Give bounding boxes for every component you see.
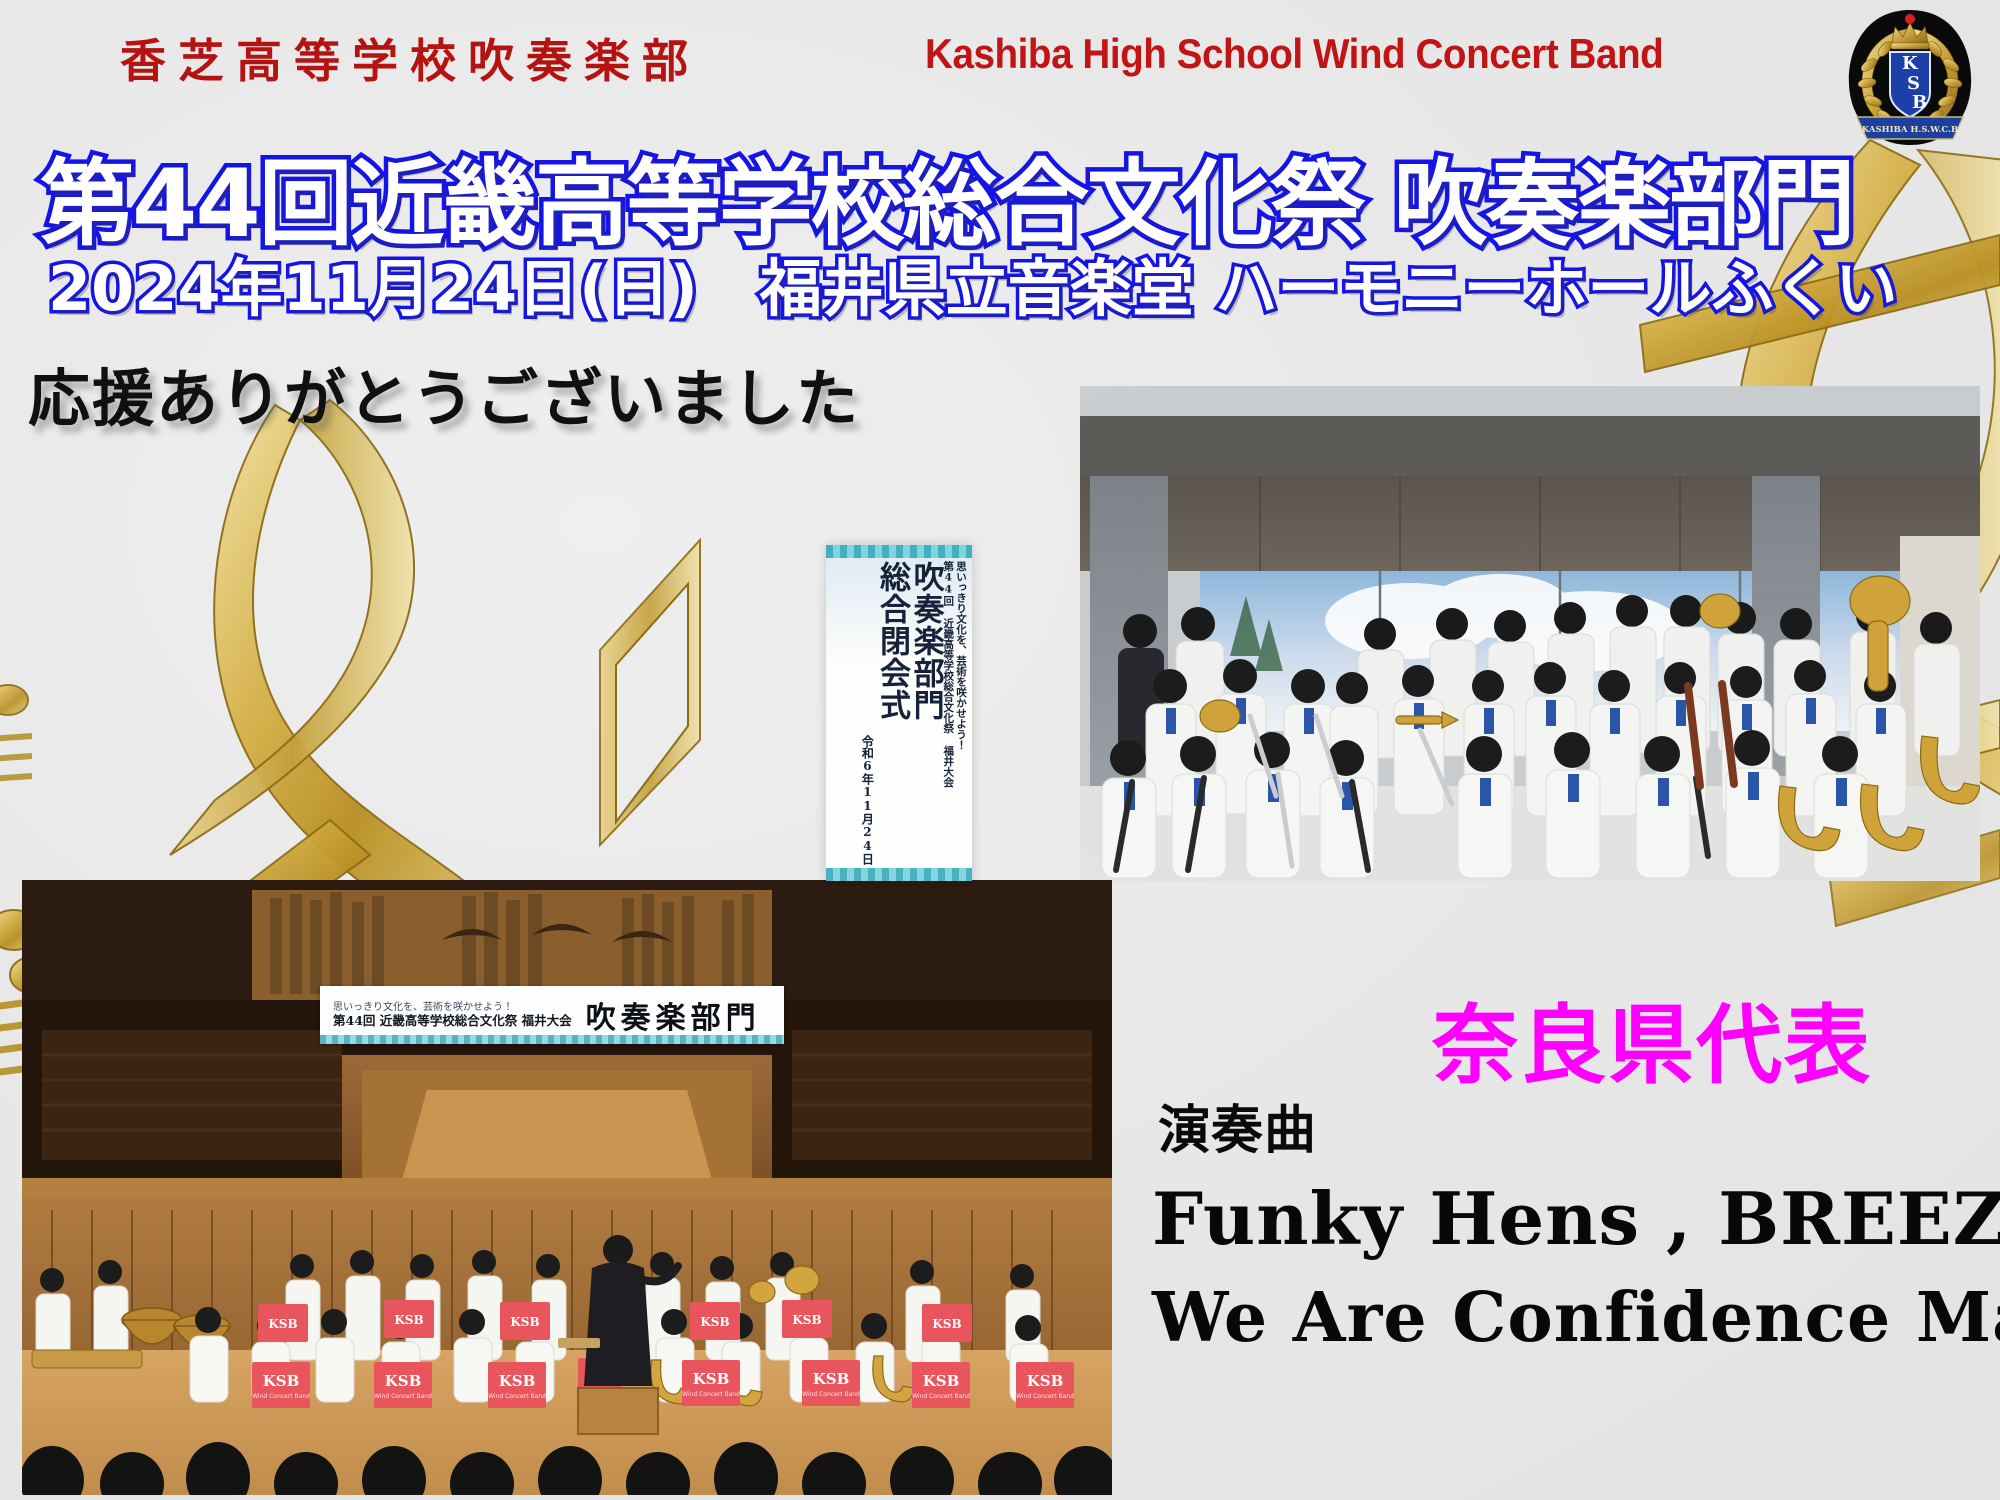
emblem-ribbon-text: KASHIBA H.S.W.C.B (1862, 125, 1958, 135)
music-stand-label: KSB (385, 1372, 422, 1390)
music-stand-label: KSB (693, 1370, 730, 1388)
ceremony-signboard: 思いっきり文化を、芸術を咲かせよう！ 第44回 近畿高等学校総合文化祭 福井大会… (826, 545, 972, 881)
svg-text:S: S (1907, 73, 1920, 94)
music-stand-label: KSB (792, 1313, 821, 1327)
program-piece-1: Funky Hens , BREEZIN’ (1152, 1176, 2000, 1261)
music-stand-label: KSB (932, 1317, 961, 1331)
music-stand-label: KSB (499, 1372, 536, 1390)
signboard-event-line: 第44回 近畿高等学校総合文化祭 福井大会 (943, 561, 954, 865)
stage-banner-subtitle: 第44回 近畿高等学校総合文化祭 福井大会 (333, 1014, 572, 1027)
stage-banner-bottom-border (320, 1035, 784, 1044)
svg-text:K: K (1902, 53, 1919, 74)
stage-banner: 思いっきり文化を、芸術を咲かせよう！ 第44回 近畿高等学校総合文化祭 福井大会… (320, 986, 784, 1044)
music-stand-label: KSB (263, 1372, 300, 1390)
music-stand-label: KSB (268, 1317, 297, 1331)
concert-stage-photo: KSB KSB KSB KSB KSB KSB KSB KSB KSB KSB … (22, 880, 1112, 1495)
music-stand-label: KSB (700, 1315, 729, 1329)
thanks-message: 応援ありがとうございました (28, 348, 860, 438)
music-stand-label: KSB (923, 1372, 960, 1390)
svg-text:Wind Concert Band: Wind Concert Band (802, 1391, 860, 1398)
svg-text:B: B (1912, 92, 1927, 113)
signboard-bottom-border (826, 868, 972, 881)
svg-text:Wind Concert Band: Wind Concert Band (682, 1391, 740, 1398)
music-stand-label: KSB (394, 1313, 423, 1327)
svg-text:Wind Concert Band: Wind Concert Band (1016, 1393, 1074, 1400)
event-date-venue: 2024年11月24日(日) 福井県立音楽堂 ハーモニーホールふくい (48, 238, 1897, 328)
svg-text:Wind Concert Band: Wind Concert Band (488, 1393, 546, 1400)
music-stand-label: KSB (813, 1370, 850, 1388)
program-label: 演奏曲 (1158, 1088, 1317, 1163)
svg-text:Wind Concert Band: Wind Concert Band (374, 1393, 432, 1400)
program-piece-2: We Are Confidence Man (1152, 1278, 2000, 1358)
stage-banner-title: 吹奏楽部門 (586, 993, 761, 1037)
signboard-date-line: 令和6年11月24日 (861, 735, 873, 865)
school-name-jp: 香芝高等学校吹奏楽部 (120, 25, 700, 91)
school-name-en: Kashiba High School Wind Concert Band (925, 30, 1663, 78)
signboard-script-line: 思いっきり文化を、芸術を咲かせよう！ (955, 561, 966, 865)
school-emblem-icon: K S B KASHIBA H.S.W.C.B (1845, 5, 1975, 155)
poster-canvas: 香芝高等学校吹奏楽部 Kashiba High School Wind Conc… (0, 0, 2000, 1500)
svg-text:Wind Concert Band: Wind Concert Band (912, 1393, 970, 1400)
music-stand-label: KSB (510, 1315, 539, 1329)
signboard-main-line: 吹奏楽部門 (909, 561, 941, 865)
band-group-photo (1080, 386, 1980, 881)
signboard-top-border (826, 545, 972, 558)
signboard-ceremony-line: 総合閉会式 (875, 561, 907, 865)
music-stand-label: KSB (1027, 1372, 1064, 1390)
representative-badge: 奈良県代表 (1432, 975, 1872, 1100)
svg-text:Wind Concert Band: Wind Concert Band (252, 1393, 310, 1400)
